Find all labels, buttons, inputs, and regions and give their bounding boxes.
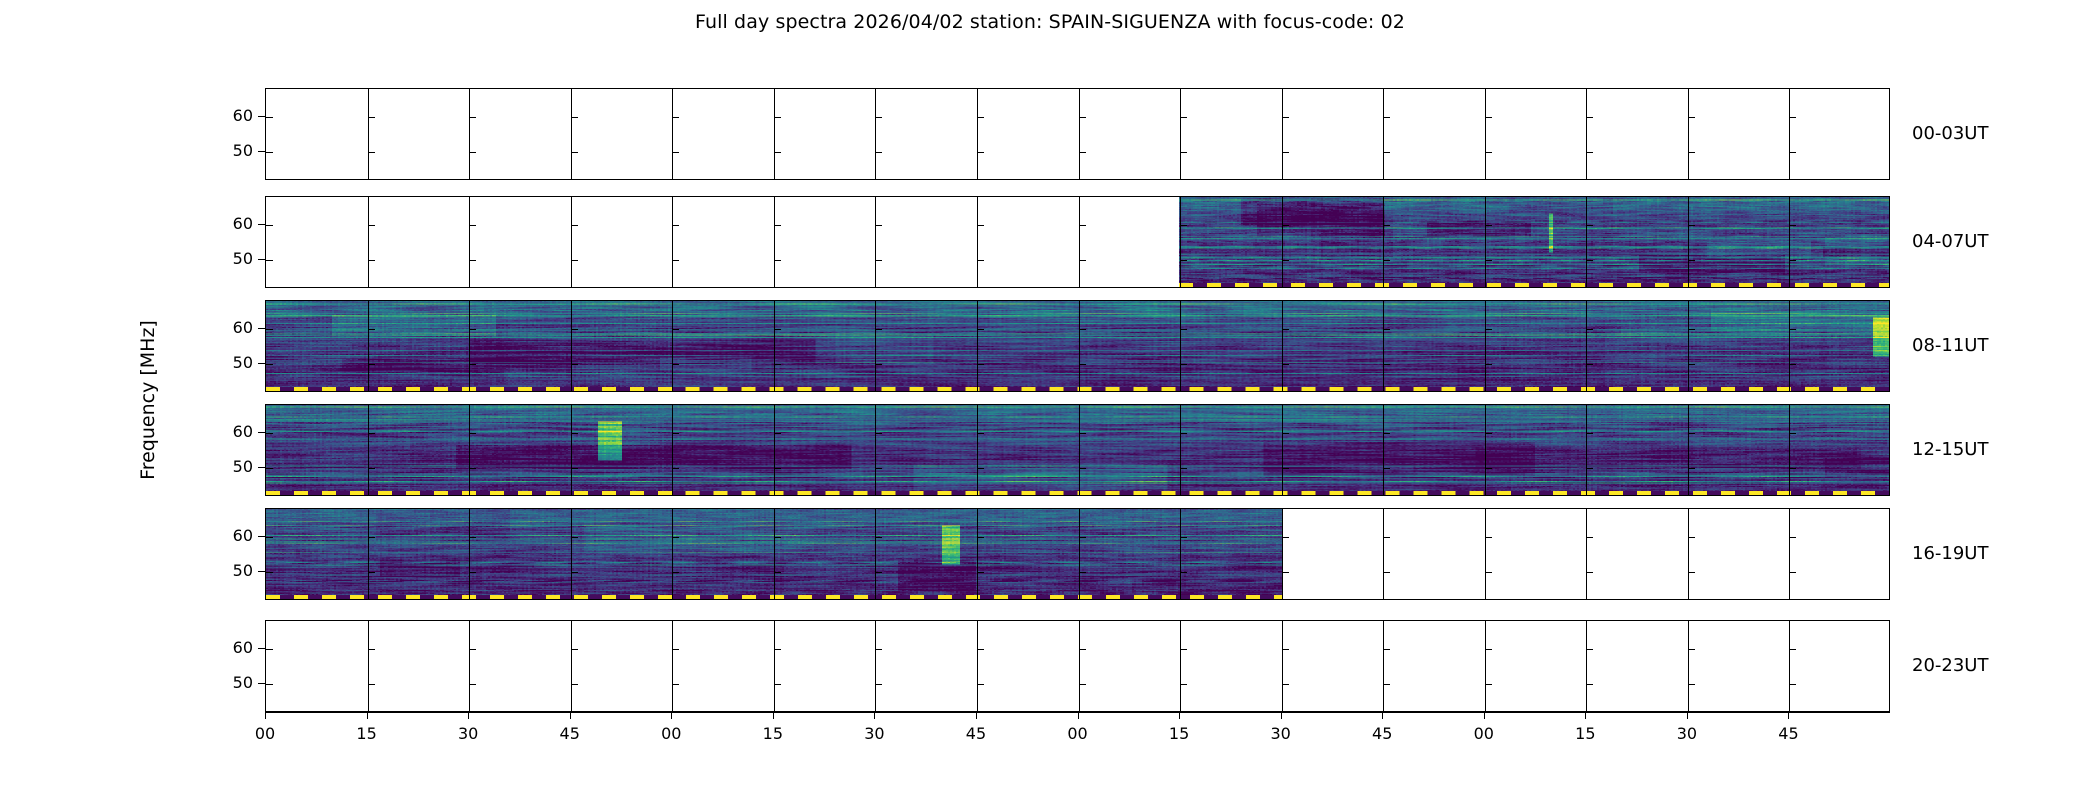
y-tick-mark bbox=[672, 152, 679, 153]
y-tick-mark bbox=[571, 225, 578, 226]
y-tick-mark-outer bbox=[258, 536, 265, 537]
cell-divider bbox=[368, 197, 369, 287]
y-axis-label: Frequency [MHz] bbox=[137, 320, 159, 480]
y-tick-mark-outer bbox=[258, 224, 265, 225]
y-tick-mark bbox=[266, 117, 273, 118]
cell-divider bbox=[469, 621, 470, 711]
y-tick-mark bbox=[672, 684, 679, 685]
cell-divider bbox=[875, 89, 876, 179]
y-tick-mark bbox=[469, 117, 476, 118]
y-tick-mark bbox=[774, 117, 781, 118]
y-tick-mark bbox=[1282, 649, 1289, 650]
x-tick-label: 00 bbox=[255, 724, 275, 743]
y-tick-mark bbox=[1282, 537, 1289, 538]
y-tick-mark bbox=[1180, 649, 1187, 650]
y-tick-mark bbox=[977, 225, 984, 226]
y-tick-mark-outer bbox=[258, 363, 265, 364]
cell-divider bbox=[1789, 89, 1790, 179]
x-tick-mark bbox=[367, 712, 368, 719]
cell-divider bbox=[672, 197, 673, 287]
cell-divider bbox=[1383, 509, 1384, 599]
y-tick-mark bbox=[1789, 152, 1796, 153]
cell-divider bbox=[1079, 197, 1080, 287]
y-tick-mark-outer bbox=[258, 683, 265, 684]
x-tick-mark bbox=[1788, 712, 1789, 719]
y-tick-mark bbox=[469, 225, 476, 226]
y-tick-mark-outer bbox=[258, 151, 265, 152]
x-tick-label: 30 bbox=[458, 724, 478, 743]
x-tick-mark bbox=[1687, 712, 1688, 719]
y-tick-label: 60 bbox=[217, 638, 253, 657]
y-tick-mark bbox=[875, 684, 882, 685]
y-tick-mark-outer bbox=[258, 259, 265, 260]
y-tick-mark bbox=[1789, 572, 1796, 573]
row-label-20-23ut: 20-23UT bbox=[1912, 655, 1988, 676]
cell-divider bbox=[469, 89, 470, 179]
y-tick-mark bbox=[1789, 649, 1796, 650]
y-tick-mark bbox=[875, 260, 882, 261]
x-tick-label: 45 bbox=[1372, 724, 1392, 743]
spectrogram-row-04-07ut bbox=[265, 196, 1890, 288]
y-tick-mark bbox=[1688, 649, 1695, 650]
cell-divider bbox=[1282, 509, 1283, 599]
y-tick-label: 60 bbox=[217, 526, 253, 545]
x-tick-label: 45 bbox=[966, 724, 986, 743]
y-tick-mark bbox=[368, 684, 375, 685]
cell-divider bbox=[1180, 621, 1181, 711]
x-tick-label: 30 bbox=[864, 724, 884, 743]
cell-divider bbox=[1586, 509, 1587, 599]
cell-divider bbox=[774, 197, 775, 287]
y-tick-mark bbox=[1485, 649, 1492, 650]
y-tick-mark-outer bbox=[258, 467, 265, 468]
y-tick-label: 60 bbox=[217, 422, 253, 441]
cell-divider bbox=[875, 197, 876, 287]
cell-divider bbox=[1180, 89, 1181, 179]
y-tick-mark bbox=[1079, 152, 1086, 153]
y-tick-mark bbox=[571, 152, 578, 153]
y-tick-mark-outer bbox=[258, 648, 265, 649]
y-tick-mark bbox=[571, 117, 578, 118]
y-tick-mark bbox=[977, 260, 984, 261]
x-tick-mark bbox=[1585, 712, 1586, 719]
x-axis: 00153045001530450015304500153045 bbox=[265, 712, 1890, 713]
spectrogram-row-20-23ut bbox=[265, 620, 1890, 712]
cell-divider bbox=[1688, 509, 1689, 599]
y-tick-mark bbox=[1079, 225, 1086, 226]
y-tick-mark bbox=[266, 684, 273, 685]
cell-divider bbox=[672, 621, 673, 711]
y-tick-mark bbox=[977, 117, 984, 118]
y-tick-mark bbox=[1789, 537, 1796, 538]
x-tick-mark bbox=[874, 712, 875, 719]
y-tick-mark bbox=[571, 649, 578, 650]
y-tick-mark bbox=[1586, 649, 1593, 650]
y-tick-label: 60 bbox=[217, 318, 253, 337]
cell-divider bbox=[1688, 89, 1689, 179]
y-tick-mark bbox=[571, 684, 578, 685]
y-tick-mark bbox=[266, 152, 273, 153]
y-tick-mark bbox=[266, 225, 273, 226]
y-tick-mark bbox=[1079, 260, 1086, 261]
y-tick-label: 50 bbox=[217, 561, 253, 580]
cell-divider bbox=[672, 89, 673, 179]
x-tick-mark bbox=[468, 712, 469, 719]
x-tick-label: 30 bbox=[1270, 724, 1290, 743]
x-tick-label: 45 bbox=[560, 724, 580, 743]
spectrogram-row-16-19ut bbox=[265, 508, 1890, 600]
spectrogram-row-08-11ut bbox=[265, 300, 1890, 392]
y-tick-mark bbox=[1079, 684, 1086, 685]
y-tick-label: 50 bbox=[217, 141, 253, 160]
cell-divider bbox=[1688, 621, 1689, 711]
y-tick-mark bbox=[875, 649, 882, 650]
x-tick-label: 15 bbox=[1169, 724, 1189, 743]
x-tick-mark bbox=[265, 712, 266, 719]
y-tick-mark bbox=[1688, 537, 1695, 538]
y-tick-label: 50 bbox=[217, 673, 253, 692]
y-tick-label: 50 bbox=[217, 353, 253, 372]
cell-divider bbox=[1383, 621, 1384, 711]
cell-divider bbox=[1789, 621, 1790, 711]
spectrogram-row-00-03ut bbox=[265, 88, 1890, 180]
y-tick-mark bbox=[368, 152, 375, 153]
y-tick-mark bbox=[1383, 649, 1390, 650]
y-tick-mark bbox=[469, 260, 476, 261]
cell-divider bbox=[977, 621, 978, 711]
x-tick-mark bbox=[671, 712, 672, 719]
x-tick-mark bbox=[1281, 712, 1282, 719]
cell-divider bbox=[469, 197, 470, 287]
y-tick-mark bbox=[1485, 117, 1492, 118]
y-tick-mark bbox=[977, 152, 984, 153]
y-tick-mark bbox=[774, 152, 781, 153]
y-tick-mark-outer bbox=[258, 571, 265, 572]
cell-divider bbox=[368, 89, 369, 179]
y-tick-mark bbox=[1789, 117, 1796, 118]
y-tick-mark bbox=[1485, 572, 1492, 573]
y-tick-mark bbox=[1688, 572, 1695, 573]
y-tick-mark bbox=[672, 117, 679, 118]
y-tick-mark bbox=[1586, 117, 1593, 118]
y-tick-mark bbox=[1383, 572, 1390, 573]
cell-divider bbox=[1586, 621, 1587, 711]
y-tick-mark bbox=[1282, 117, 1289, 118]
cell-divider bbox=[571, 621, 572, 711]
x-tick-mark bbox=[976, 712, 977, 719]
y-tick-mark bbox=[1180, 117, 1187, 118]
y-tick-label: 60 bbox=[217, 106, 253, 125]
cell-divider bbox=[1079, 89, 1080, 179]
y-tick-mark bbox=[1586, 684, 1593, 685]
x-tick-label: 30 bbox=[1677, 724, 1697, 743]
cell-divider bbox=[774, 621, 775, 711]
y-tick-mark bbox=[368, 225, 375, 226]
y-tick-mark bbox=[1688, 684, 1695, 685]
y-tick-mark bbox=[1586, 537, 1593, 538]
y-tick-mark bbox=[1282, 152, 1289, 153]
y-tick-mark bbox=[1485, 537, 1492, 538]
row-label-16-19ut: 16-19UT bbox=[1912, 543, 1988, 564]
page-title: Full day spectra 2026/04/02 station: SPA… bbox=[0, 11, 2100, 33]
y-tick-mark bbox=[1180, 152, 1187, 153]
y-tick-label: 60 bbox=[217, 214, 253, 233]
y-tick-label: 50 bbox=[217, 457, 253, 476]
x-tick-mark bbox=[1078, 712, 1079, 719]
spectrogram-image bbox=[266, 509, 1282, 599]
cell-divider bbox=[1282, 89, 1283, 179]
y-tick-mark bbox=[1079, 649, 1086, 650]
spectrogram-row-12-15ut bbox=[265, 404, 1890, 496]
cell-divider bbox=[1789, 509, 1790, 599]
x-tick-label: 45 bbox=[1778, 724, 1798, 743]
x-tick-mark bbox=[1179, 712, 1180, 719]
y-tick-mark bbox=[469, 152, 476, 153]
cell-divider bbox=[1282, 621, 1283, 711]
y-tick-mark bbox=[1383, 117, 1390, 118]
y-tick-mark bbox=[774, 260, 781, 261]
cell-divider bbox=[1485, 89, 1486, 179]
cell-divider bbox=[1383, 89, 1384, 179]
y-tick-mark bbox=[1180, 684, 1187, 685]
y-tick-mark bbox=[469, 684, 476, 685]
y-tick-mark bbox=[672, 649, 679, 650]
y-tick-mark bbox=[368, 117, 375, 118]
spectrogram-image bbox=[266, 301, 1890, 391]
cell-divider bbox=[571, 197, 572, 287]
cell-divider bbox=[368, 621, 369, 711]
y-tick-mark bbox=[1079, 117, 1086, 118]
y-tick-mark bbox=[875, 225, 882, 226]
x-tick-mark bbox=[1382, 712, 1383, 719]
x-tick-label: 00 bbox=[1474, 724, 1494, 743]
y-tick-mark bbox=[571, 260, 578, 261]
y-tick-mark bbox=[266, 260, 273, 261]
x-tick-mark bbox=[570, 712, 571, 719]
y-tick-mark bbox=[266, 649, 273, 650]
y-tick-mark bbox=[368, 260, 375, 261]
cell-divider bbox=[875, 621, 876, 711]
y-tick-mark bbox=[875, 117, 882, 118]
cell-divider bbox=[571, 89, 572, 179]
cell-divider bbox=[1485, 509, 1486, 599]
y-tick-mark bbox=[469, 649, 476, 650]
row-label-08-11ut: 08-11UT bbox=[1912, 335, 1988, 356]
x-tick-label: 00 bbox=[661, 724, 681, 743]
spectrogram-figure: Full day spectra 2026/04/02 station: SPA… bbox=[0, 0, 2100, 800]
cell-divider bbox=[977, 89, 978, 179]
y-tick-mark-outer bbox=[258, 328, 265, 329]
y-tick-mark bbox=[1282, 684, 1289, 685]
y-tick-mark bbox=[1688, 152, 1695, 153]
y-tick-mark bbox=[672, 260, 679, 261]
y-tick-mark bbox=[1586, 152, 1593, 153]
row-label-04-07ut: 04-07UT bbox=[1912, 231, 1988, 252]
cell-divider bbox=[774, 89, 775, 179]
y-tick-mark bbox=[774, 649, 781, 650]
cell-divider bbox=[1079, 621, 1080, 711]
x-tick-mark bbox=[1484, 712, 1485, 719]
y-tick-mark bbox=[977, 684, 984, 685]
y-tick-mark bbox=[774, 684, 781, 685]
x-tick-label: 15 bbox=[763, 724, 783, 743]
y-tick-mark bbox=[1485, 152, 1492, 153]
y-tick-label: 50 bbox=[217, 249, 253, 268]
y-tick-mark bbox=[1688, 117, 1695, 118]
y-tick-mark bbox=[1383, 152, 1390, 153]
y-tick-mark bbox=[1485, 684, 1492, 685]
x-tick-label: 15 bbox=[1575, 724, 1595, 743]
y-tick-mark bbox=[1383, 537, 1390, 538]
spectrogram-image bbox=[1179, 197, 1890, 287]
row-label-12-15ut: 12-15UT bbox=[1912, 439, 1988, 460]
x-tick-mark bbox=[773, 712, 774, 719]
y-tick-mark bbox=[977, 649, 984, 650]
y-tick-mark bbox=[875, 152, 882, 153]
cell-divider bbox=[1485, 621, 1486, 711]
x-tick-label: 00 bbox=[1067, 724, 1087, 743]
y-tick-mark-outer bbox=[258, 116, 265, 117]
y-tick-mark bbox=[368, 649, 375, 650]
row-label-00-03ut: 00-03UT bbox=[1912, 123, 1988, 144]
y-tick-mark bbox=[774, 225, 781, 226]
cell-divider bbox=[1586, 89, 1587, 179]
cell-divider bbox=[977, 197, 978, 287]
y-tick-mark bbox=[1282, 572, 1289, 573]
spectrogram-image bbox=[266, 405, 1890, 495]
y-tick-mark bbox=[1586, 572, 1593, 573]
y-tick-mark bbox=[672, 225, 679, 226]
y-tick-mark-outer bbox=[258, 432, 265, 433]
y-tick-mark bbox=[1789, 684, 1796, 685]
x-tick-label: 15 bbox=[356, 724, 376, 743]
y-tick-mark bbox=[1383, 684, 1390, 685]
